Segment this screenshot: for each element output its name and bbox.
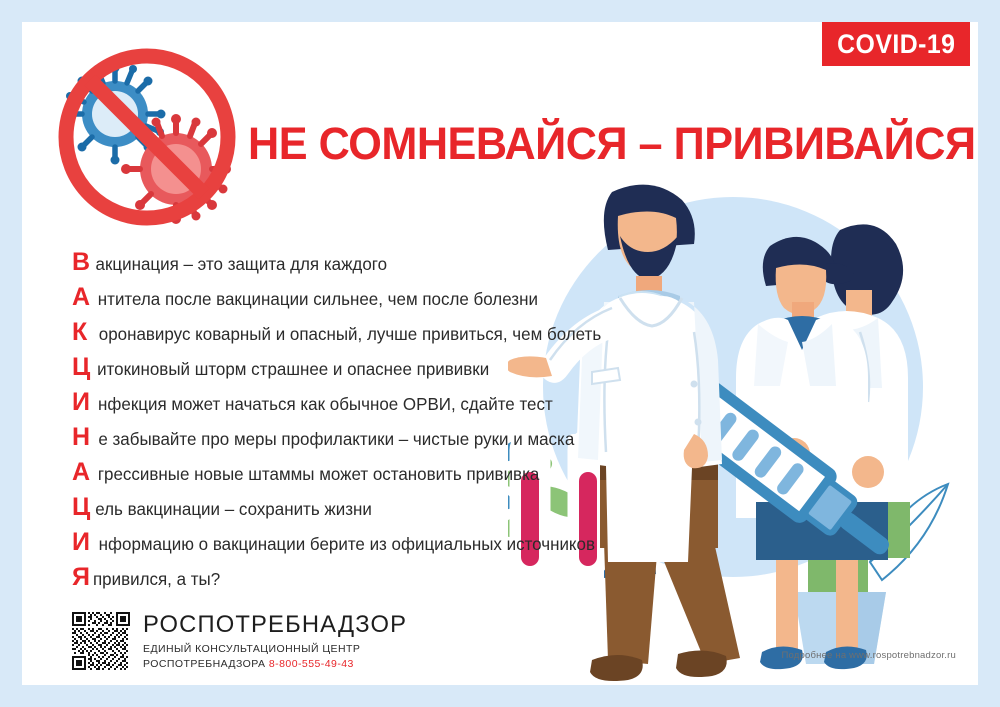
- acrostic-list: В акцинация – это защита для каждого А н…: [72, 250, 652, 600]
- acrostic-text: нформацию о вакцинации берите из официал…: [99, 536, 595, 554]
- list-item: Ц ель вакцинации – сохранить жизни: [72, 495, 652, 530]
- acrostic-capital: Ц: [72, 355, 91, 380]
- acrostic-capital: Ц: [72, 495, 91, 520]
- poster-root: COVID-19: [0, 0, 1000, 707]
- acrostic-text: оронавирус коварный и опасный, лучше при…: [99, 326, 601, 344]
- poster-panel: COVID-19: [22, 22, 978, 685]
- list-item: Ц итокиновый шторм страшнее и опаснее пр…: [72, 355, 652, 390]
- acrostic-text: нтитела после вакцинации сильнее, чем по…: [98, 291, 538, 309]
- list-item: И нфекция может начаться как обычное ОРВ…: [72, 390, 652, 425]
- page-title: НЕ СОМНЕВАЙСЯ – ПРИВИВАЙСЯ!: [248, 118, 920, 170]
- acrostic-capital: А: [72, 285, 91, 310]
- list-item: В акцинация – это защита для каждого: [72, 250, 652, 285]
- no-virus-icon: [52, 42, 242, 232]
- list-item: А нтитела после вакцинации сильнее, чем …: [72, 285, 652, 320]
- footer-branding: РОСПОТРЕБНАДЗОР ЕДИНЫЙ КОНСУЛЬТАЦИОННЫЙ …: [72, 612, 415, 671]
- acrostic-capital: В: [72, 250, 91, 275]
- acrostic-text: акцинация – это защита для каждого: [96, 256, 388, 274]
- footer-line-2: РОСПОТРЕБНАДЗОРА 8-800-555-49-43: [143, 657, 415, 671]
- acrostic-text: грессивные новые штаммы может остановить…: [98, 466, 540, 484]
- acrostic-capital: К: [72, 320, 91, 345]
- acrostic-text: е забывайте про меры профилактики – чист…: [98, 431, 574, 449]
- covid-19-badge-label: COVID-19: [837, 29, 955, 60]
- footer-line-1: ЕДИНЫЙ КОНСУЛЬТАЦИОННЫЙ ЦЕНТР: [143, 642, 415, 656]
- website-note[interactable]: Подробнее на www.rospotrebnadzor.ru: [781, 650, 956, 661]
- acrostic-text: итокиновый шторм страшнее и опаснее прив…: [97, 361, 489, 379]
- footer-text-block: РОСПОТРЕБНАДЗОР ЕДИНЫЙ КОНСУЛЬТАЦИОННЫЙ …: [143, 612, 415, 671]
- list-item: К оронавирус коварный и опасный, лучше п…: [72, 320, 652, 355]
- hotline-phone[interactable]: 8-800-555-49-43: [269, 658, 354, 670]
- list-item: И нформацию о вакцинации берите из офици…: [72, 530, 652, 565]
- acrostic-capital: И: [72, 390, 91, 415]
- list-item: Я привился, а ты?: [72, 565, 652, 600]
- footer-line-2-label: РОСПОТРЕБНАДЗОРА: [143, 658, 266, 670]
- acrostic-text: нфекция может начаться как обычное ОРВИ,…: [98, 396, 553, 414]
- acrostic-capital: Н: [72, 425, 91, 450]
- list-item: Н е забывайте про меры профилактики – чи…: [72, 425, 652, 460]
- organization-name: РОСПОТРЕБНАДЗОР: [143, 613, 407, 638]
- qr-code-icon[interactable]: [72, 612, 130, 670]
- acrostic-text: привился, а ты?: [93, 571, 220, 589]
- acrostic-capital: И: [72, 530, 91, 555]
- list-item: А грессивные новые штаммы может останови…: [72, 460, 652, 495]
- acrostic-capital: А: [72, 460, 91, 485]
- acrostic-capital: Я: [72, 565, 91, 590]
- covid-19-badge: COVID-19: [822, 22, 970, 66]
- acrostic-text: ель вакцинации – сохранить жизни: [95, 501, 372, 519]
